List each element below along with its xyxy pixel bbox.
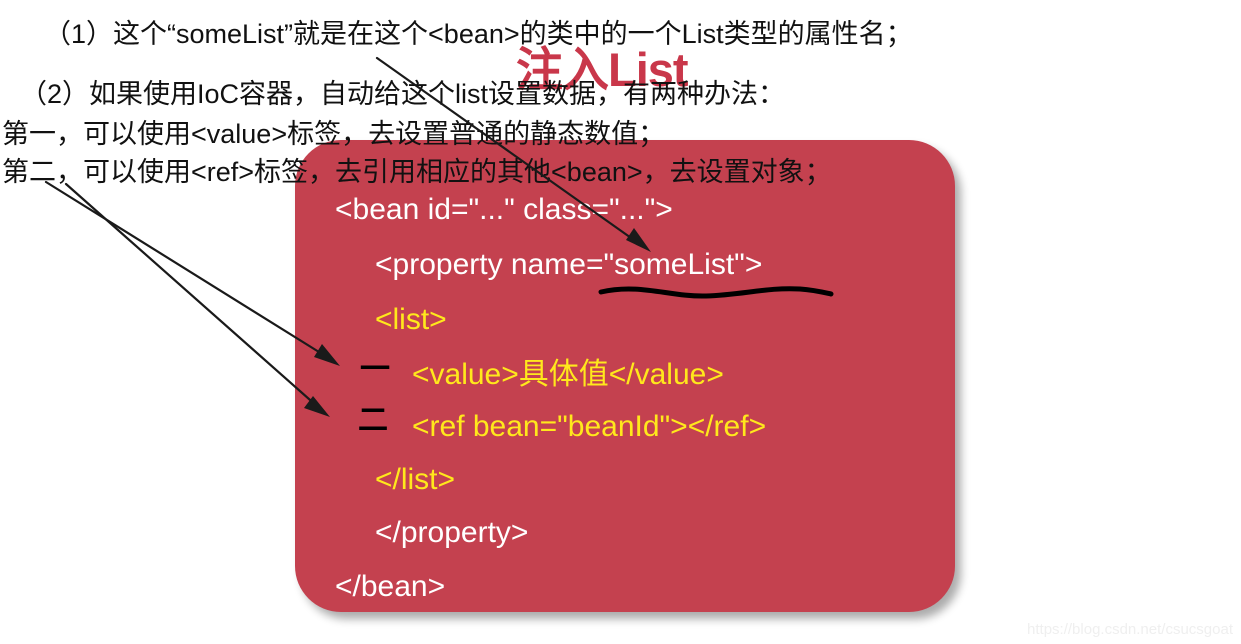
- code-line-property-close: </property>: [375, 518, 528, 548]
- prose-line-3: 第一，可以使用<value>标签，去设置普通的静态数值；: [2, 121, 665, 148]
- code-line-ref: <ref bean="beanId"></ref>: [412, 412, 766, 442]
- source-url-watermark: https://blog.csdn.net/csucsgoat: [1027, 621, 1233, 638]
- code-panel: <bean id="..." class="..."> <property na…: [295, 140, 955, 612]
- prose-line-2: （2）如果使用IoC容器，自动给这个list设置数据，有两种办法：: [20, 81, 785, 108]
- code-line-value: <value>具体值</value>: [412, 360, 724, 390]
- slide-canvas: 注入List <bean id="..." class="..."> <prop…: [0, 0, 1241, 644]
- handwritten-mark-two: 二: [358, 406, 388, 436]
- prose-line-1: （1）这个“someList”就是在这个<bean>的类中的一个List类型的属…: [44, 21, 913, 48]
- code-line-bean-open: <bean id="..." class="...">: [335, 195, 673, 225]
- code-line-list-close: </list>: [375, 465, 455, 495]
- arrow-to-ref-icon: [66, 184, 330, 417]
- code-line-bean-close: </bean>: [335, 572, 445, 602]
- code-line-property-open: <property name="someList">: [375, 250, 762, 280]
- handwritten-mark-one: 一: [360, 355, 390, 385]
- code-line-list-open: <list>: [375, 305, 447, 335]
- prose-line-4: 第二，可以使用<ref>标签，去引用相应的其他<bean>，去设置对象；: [2, 159, 832, 186]
